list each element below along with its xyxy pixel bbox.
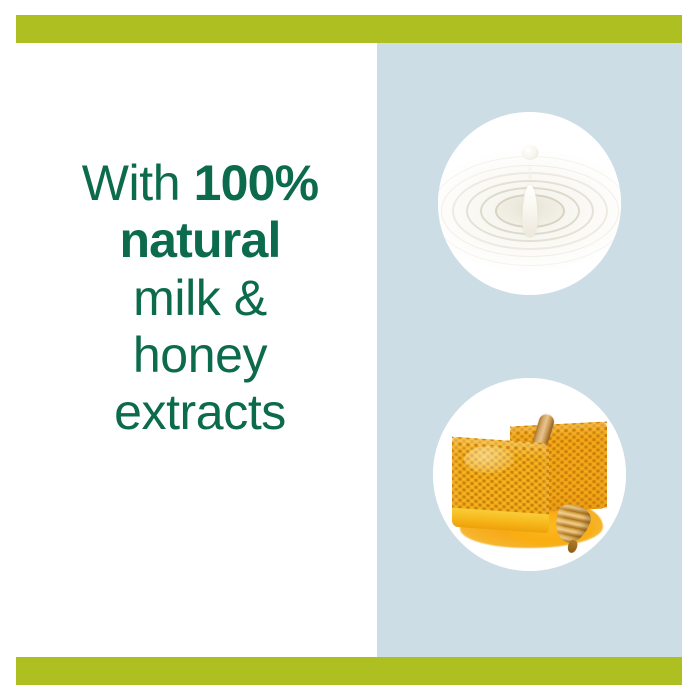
headline-line-1: With 100% [26,155,374,212]
honeycomb-sheen [464,446,514,473]
headline-line-5: extracts [26,384,374,441]
headline-percentage-strong: 100% [194,155,319,211]
bottom-green-rule [16,657,682,685]
milk-droplet-icon [521,145,538,160]
top-green-rule [16,15,682,43]
headline-line-2: natural [26,212,374,269]
headline-line-3: milk & [26,270,374,327]
milk-splash-photo [438,112,621,295]
milk-droplet-thread [528,163,531,179]
headline-line-4: honey [26,327,374,384]
headline-block: With 100% natural milk & honey extracts [26,155,374,441]
honeycomb-photo [433,378,626,571]
product-claim-banner: With 100% natural milk & honey extracts [0,0,700,700]
headline-line-1-prefix: With [82,155,194,211]
